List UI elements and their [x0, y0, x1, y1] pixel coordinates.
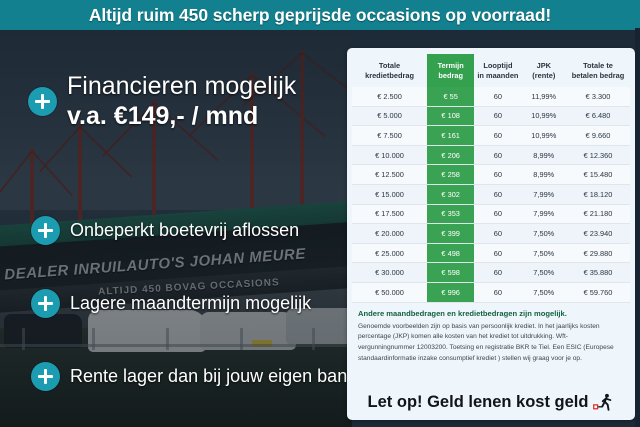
financing-card: TotalekredietbedragTermijnbedragLooptijd…: [347, 48, 635, 420]
running-man-icon: [592, 393, 614, 412]
table-cell: € 12.500: [352, 165, 427, 185]
table-cell: 8,99%: [522, 145, 566, 165]
benefit-repayment-label: Onbeperkt boetevrij aflossen: [70, 220, 299, 240]
table-header-cell-1: Termijnbedrag: [427, 54, 474, 87]
plus-icon: [28, 87, 57, 116]
legal-warning-text: Let op! Geld lenen kost geld: [368, 393, 589, 412]
table-cell: 7,50%: [522, 282, 566, 302]
table-cell: € 108: [427, 106, 474, 126]
table-cell: 60: [474, 282, 521, 302]
benefit-item-financing: Financieren mogelijk v.a. €149,- / mnd: [28, 72, 296, 130]
disclaimer-body: Genoemde voorbeelden zijn op basis van p…: [358, 322, 624, 365]
table-row: € 5.000€ 1086010,99%€ 6.480: [352, 106, 630, 126]
table-row: € 12.500€ 258608,99%€ 15.480: [352, 165, 630, 185]
table-cell: € 9.660: [566, 126, 630, 146]
plus-icon: [31, 289, 60, 318]
table-cell: 60: [474, 106, 521, 126]
table-cell: € 18.120: [566, 184, 630, 204]
table-cell: € 353: [427, 204, 474, 224]
table-cell: € 55: [427, 87, 474, 106]
table-cell: € 17.500: [352, 204, 427, 224]
table-cell: € 5.000: [352, 106, 427, 126]
table-cell: € 258: [427, 165, 474, 185]
table-cell: € 12.360: [566, 145, 630, 165]
table-cell: € 7.500: [352, 126, 427, 146]
table-cell: 7,50%: [522, 224, 566, 244]
table-cell: 7,99%: [522, 184, 566, 204]
table-row: € 30.000€ 598607,50%€ 35.880: [352, 263, 630, 283]
table-cell: € 206: [427, 145, 474, 165]
rates-table-body: € 2.500€ 556011,99%€ 3.300€ 5.000€ 10860…: [352, 87, 630, 302]
table-cell: € 996: [427, 282, 474, 302]
table-header-cell-3: JPK(rente): [522, 54, 566, 87]
table-cell: € 2.500: [352, 87, 427, 106]
table-cell: € 23.940: [566, 224, 630, 244]
table-row: € 20.000€ 399607,50%€ 23.940: [352, 224, 630, 244]
right-edge: [635, 28, 640, 427]
table-cell: 60: [474, 263, 521, 283]
table-cell: € 35.880: [566, 263, 630, 283]
table-row: € 2.500€ 556011,99%€ 3.300: [352, 87, 630, 106]
table-cell: 8,99%: [522, 165, 566, 185]
table-cell: 60: [474, 87, 521, 106]
ad-banner: DEALER INRUILAUTO'S JOHAN MEURE ALTIJD 4…: [0, 0, 640, 427]
table-cell: € 50.000: [352, 282, 427, 302]
table-header-cell-2: Looptijdin maanden: [474, 54, 521, 87]
table-row: € 25.000€ 498607,50%€ 29.880: [352, 243, 630, 263]
headline-text: Altijd ruim 450 scherp geprijsde occasio…: [89, 5, 551, 26]
table-cell: 7,99%: [522, 204, 566, 224]
table-cell: € 30.000: [352, 263, 427, 283]
table-cell: € 21.180: [566, 204, 630, 224]
table-cell: 11,99%: [522, 87, 566, 106]
benefit-financing-line1: Financieren mogelijk: [67, 72, 296, 100]
table-cell: € 3.300: [566, 87, 630, 106]
table-header-row: TotalekredietbedragTermijnbedragLooptijd…: [352, 54, 630, 87]
table-cell: € 15.480: [566, 165, 630, 185]
benefits-list: Financieren mogelijk v.a. €149,- / mnd O…: [0, 30, 348, 427]
table-cell: € 25.000: [352, 243, 427, 263]
benefit-item-lower-term: Lagere maandtermijn mogelijk: [31, 289, 311, 318]
disclaimer-block: Andere maandbedragen en kredietbedragen …: [347, 303, 635, 365]
table-cell: € 6.480: [566, 106, 630, 126]
benefit-item-lower-rate: Rente lager dan bij jouw eigen bank: [31, 362, 356, 391]
table-cell: € 598: [427, 263, 474, 283]
headline-banner: Altijd ruim 450 scherp geprijsde occasio…: [0, 0, 640, 30]
plus-icon: [31, 362, 60, 391]
table-cell: 60: [474, 165, 521, 185]
table-cell: 7,50%: [522, 263, 566, 283]
legal-warning: Let op! Geld lenen kost geld: [347, 393, 635, 412]
rates-table-wrap: TotalekredietbedragTermijnbedragLooptijd…: [347, 48, 635, 303]
table-cell: 60: [474, 224, 521, 244]
benefit-item-repayment: Onbeperkt boetevrij aflossen: [31, 216, 299, 245]
table-cell: € 29.880: [566, 243, 630, 263]
table-row: € 15.000€ 302607,99%€ 18.120: [352, 184, 630, 204]
table-cell: 10,99%: [522, 106, 566, 126]
table-cell: 60: [474, 184, 521, 204]
table-cell: € 161: [427, 126, 474, 146]
table-cell: € 59.760: [566, 282, 630, 302]
table-cell: € 399: [427, 224, 474, 244]
plus-icon: [31, 216, 60, 245]
table-cell: 60: [474, 204, 521, 224]
table-cell: 7,50%: [522, 243, 566, 263]
table-cell: 60: [474, 243, 521, 263]
table-cell: 60: [474, 145, 521, 165]
table-row: € 17.500€ 353607,99%€ 21.180: [352, 204, 630, 224]
benefit-lower-term-label: Lagere maandtermijn mogelijk: [70, 293, 311, 313]
table-header-cell-0: Totalekredietbedrag: [352, 54, 427, 87]
table-header-cell-4: Totale tebetalen bedrag: [566, 54, 630, 87]
benefit-lower-rate-label: Rente lager dan bij jouw eigen bank: [70, 366, 356, 386]
table-cell: 10,99%: [522, 126, 566, 146]
benefit-financing-line2: v.a. €149,- / mnd: [67, 102, 296, 130]
rates-table-head: TotalekredietbedragTermijnbedragLooptijd…: [352, 54, 630, 87]
table-cell: € 20.000: [352, 224, 427, 244]
table-cell: € 302: [427, 184, 474, 204]
table-row: € 50.000€ 996607,50%€ 59.760: [352, 282, 630, 302]
table-row: € 10.000€ 206608,99%€ 12.360: [352, 145, 630, 165]
rates-table: TotalekredietbedragTermijnbedragLooptijd…: [352, 54, 630, 303]
table-cell: € 15.000: [352, 184, 427, 204]
table-cell: € 10.000: [352, 145, 427, 165]
table-row: € 7.500€ 1616010,99%€ 9.660: [352, 126, 630, 146]
table-cell: € 498: [427, 243, 474, 263]
table-cell: 60: [474, 126, 521, 146]
disclaimer-heading: Andere maandbedragen en kredietbedragen …: [358, 309, 624, 318]
